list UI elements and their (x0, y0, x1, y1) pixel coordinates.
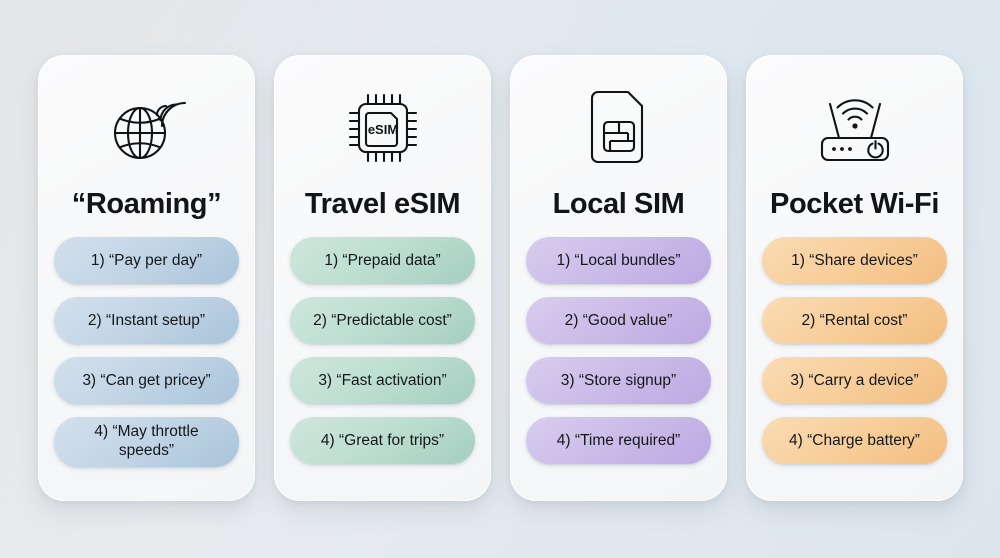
list-item[interactable]: 3) “Fast activation” (290, 357, 475, 404)
feature-list: 1) “Share devices” 2) “Rental cost” 3) “… (762, 237, 947, 464)
list-item[interactable]: 4) “Great for trips” (290, 417, 475, 464)
card-roaming[interactable]: “Roaming” 1) “Pay per day” 2) “Instant s… (38, 55, 255, 501)
page-title: “Roaming” (72, 189, 221, 219)
list-item[interactable]: 2) “Good value” (526, 297, 711, 344)
page-title: Pocket Wi-Fi (770, 189, 939, 219)
list-item[interactable]: 2) “Rental cost” (762, 297, 947, 344)
feature-list: 1) “Prepaid data” 2) “Predictable cost” … (290, 237, 475, 464)
list-item[interactable]: 2) “Predictable cost” (290, 297, 475, 344)
page-title: Local SIM (553, 189, 685, 219)
router-wifi-icon (808, 85, 902, 171)
list-item[interactable]: 4) “May throttle speeds” (54, 417, 239, 466)
list-item[interactable]: 4) “Time required” (526, 417, 711, 464)
card-pocket-wifi[interactable]: Pocket Wi-Fi 1) “Share devices” 2) “Rent… (746, 55, 963, 501)
list-item[interactable]: 1) “Pay per day” (54, 237, 239, 284)
esim-chip-label: eSIM (367, 122, 397, 137)
list-item[interactable]: 4) “Charge battery” (762, 417, 947, 464)
globe-roaming-icon (107, 85, 187, 171)
list-item[interactable]: 1) “Local bundles” (526, 237, 711, 284)
list-item[interactable]: 1) “Share devices” (762, 237, 947, 284)
list-item[interactable]: 3) “Can get pricey” (54, 357, 239, 404)
sim-card-icon (586, 85, 652, 171)
list-item[interactable]: 3) “Store signup” (526, 357, 711, 404)
card-row: “Roaming” 1) “Pay per day” 2) “Instant s… (38, 55, 962, 501)
card-local-sim[interactable]: Local SIM 1) “Local bundles” 2) “Good va… (510, 55, 727, 501)
list-item[interactable]: 1) “Prepaid data” (290, 237, 475, 284)
esim-chip-icon: eSIM (343, 85, 423, 171)
feature-list: 1) “Local bundles” 2) “Good value” 3) “S… (526, 237, 711, 464)
feature-list: 1) “Pay per day” 2) “Instant setup” 3) “… (54, 237, 239, 466)
comparison-board: “Roaming” 1) “Pay per day” 2) “Instant s… (0, 0, 1000, 558)
list-item[interactable]: 2) “Instant setup” (54, 297, 239, 344)
card-travel-esim[interactable]: eSIM Travel eSIM 1) “Prepaid data” 2) “P… (274, 55, 491, 501)
page-title: Travel eSIM (305, 189, 460, 219)
list-item[interactable]: 3) “Carry a device” (762, 357, 947, 404)
